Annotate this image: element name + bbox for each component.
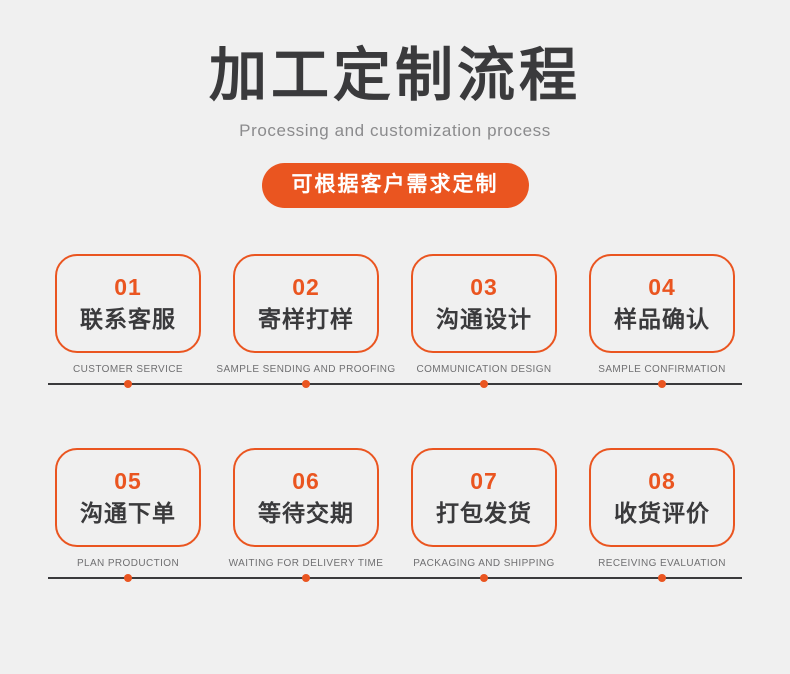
step-cell-04: 04 样品确认 SAMPLE CONFIRMATION (589, 254, 735, 375)
step-card-02[interactable]: 02 寄样打样 (233, 254, 379, 353)
step-cell-07: 07 打包发货 PACKAGING AND SHIPPING (411, 448, 557, 569)
step-label-cn: 沟通下单 (80, 502, 176, 525)
page-subtitle: Processing and customization process (0, 121, 790, 141)
steps-container: 01 联系客服 CUSTOMER SERVICE 02 寄样打样 SAMPLE … (0, 254, 790, 608)
step-label-en: WAITING FOR DELIVERY TIME (229, 558, 384, 569)
connector-dot (124, 380, 132, 388)
step-number: 01 (114, 276, 142, 299)
step-label-en: RECEIVING EVALUATION (598, 558, 726, 569)
page-title: 加工定制流程 (0, 46, 790, 107)
step-label-en: COMMUNICATION DESIGN (416, 364, 551, 375)
step-number: 03 (470, 276, 498, 299)
step-label-cn: 样品确认 (614, 308, 710, 331)
step-label-cn: 联系客服 (80, 308, 176, 331)
connector-rail-1 (48, 383, 742, 385)
step-cell-05: 05 沟通下单 PLAN PRODUCTION (55, 448, 201, 569)
step-card-01[interactable]: 01 联系客服 (55, 254, 201, 353)
steps-row-2: 05 沟通下单 PLAN PRODUCTION 06 等待交期 WAITING … (0, 448, 790, 608)
connector-dot (124, 574, 132, 582)
step-number: 07 (470, 470, 498, 493)
badge-container: 可根据客户需求定制 (0, 163, 790, 208)
connector-dot (658, 380, 666, 388)
step-label-cn: 打包发货 (436, 502, 532, 525)
header: 加工定制流程 Processing and customization proc… (0, 0, 790, 208)
step-label-cn: 寄样打样 (258, 308, 354, 331)
connector-dot (480, 574, 488, 582)
custom-order-badge: 可根据客户需求定制 (262, 163, 529, 208)
connector-dot (302, 380, 310, 388)
step-card-05[interactable]: 05 沟通下单 (55, 448, 201, 547)
steps-row-1: 01 联系客服 CUSTOMER SERVICE 02 寄样打样 SAMPLE … (0, 254, 790, 414)
step-cell-03: 03 沟通设计 COMMUNICATION DESIGN (411, 254, 557, 375)
step-card-04[interactable]: 04 样品确认 (589, 254, 735, 353)
connector-dot (480, 380, 488, 388)
step-cell-08: 08 收货评价 RECEIVING EVALUATION (589, 448, 735, 569)
step-cell-01: 01 联系客服 CUSTOMER SERVICE (55, 254, 201, 375)
step-number: 05 (114, 470, 142, 493)
process-flow-infographic: 加工定制流程 Processing and customization proc… (0, 0, 790, 674)
step-label-en: PLAN PRODUCTION (77, 558, 179, 569)
step-number: 04 (648, 276, 676, 299)
connector-rail-2 (48, 577, 742, 579)
step-cell-06: 06 等待交期 WAITING FOR DELIVERY TIME (233, 448, 379, 569)
step-card-03[interactable]: 03 沟通设计 (411, 254, 557, 353)
steps-row-1-cards: 01 联系客服 CUSTOMER SERVICE 02 寄样打样 SAMPLE … (0, 254, 790, 375)
step-cell-02: 02 寄样打样 SAMPLE SENDING AND PROOFING (233, 254, 379, 375)
step-label-cn: 收货评价 (614, 502, 710, 525)
step-label-cn: 等待交期 (258, 502, 354, 525)
step-label-en: SAMPLE CONFIRMATION (598, 364, 725, 375)
step-label-en: SAMPLE SENDING AND PROOFING (216, 364, 395, 375)
step-number: 02 (292, 276, 320, 299)
step-number: 06 (292, 470, 320, 493)
step-card-08[interactable]: 08 收货评价 (589, 448, 735, 547)
step-label-cn: 沟通设计 (436, 308, 532, 331)
connector-dot (658, 574, 666, 582)
step-label-en: PACKAGING AND SHIPPING (413, 558, 554, 569)
steps-row-2-cards: 05 沟通下单 PLAN PRODUCTION 06 等待交期 WAITING … (0, 448, 790, 569)
connector-dot (302, 574, 310, 582)
step-number: 08 (648, 470, 676, 493)
step-card-06[interactable]: 06 等待交期 (233, 448, 379, 547)
step-card-07[interactable]: 07 打包发货 (411, 448, 557, 547)
step-label-en: CUSTOMER SERVICE (73, 364, 183, 375)
